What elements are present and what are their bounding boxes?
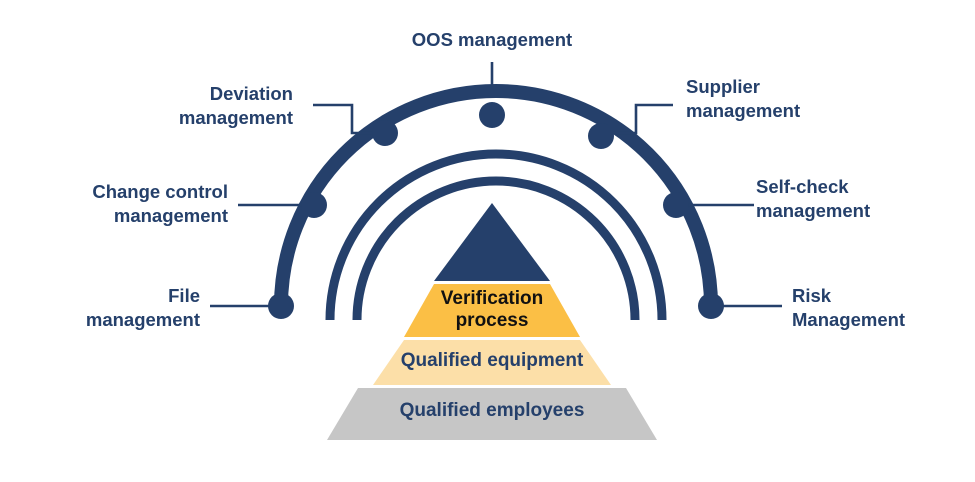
pyramid-label-qualified-employees[interactable]: Qualified employees bbox=[327, 400, 657, 422]
arc-label-deviation-management[interactable]: Deviation management bbox=[48, 82, 293, 131]
diagram-canvas: OOS management Deviation management Supp… bbox=[0, 0, 975, 482]
node-supplier-management bbox=[588, 123, 614, 149]
arc-label-oos-management[interactable]: OOS management bbox=[352, 28, 632, 52]
arc-label-change-control-management[interactable]: Change control management bbox=[10, 180, 228, 229]
arc-label-file-management[interactable]: File management bbox=[10, 284, 200, 333]
node-file-management bbox=[268, 293, 294, 319]
arc-label-self-check-management[interactable]: Self-check management bbox=[756, 175, 971, 224]
node-change-control-management bbox=[301, 192, 327, 218]
node-self-check-management bbox=[663, 192, 689, 218]
pyramid-label-verification-process[interactable]: Verification process bbox=[404, 288, 580, 333]
node-risk-management bbox=[698, 293, 724, 319]
node-deviation-management bbox=[372, 120, 398, 146]
arc-label-supplier-management[interactable]: Supplier management bbox=[686, 75, 936, 124]
pyramid-apex-shape bbox=[434, 203, 550, 281]
arc-label-risk-management[interactable]: Risk Management bbox=[792, 284, 972, 333]
pyramid-label-qualified-equipment[interactable]: Qualified equipment bbox=[373, 350, 611, 372]
node-oos-management bbox=[479, 102, 505, 128]
